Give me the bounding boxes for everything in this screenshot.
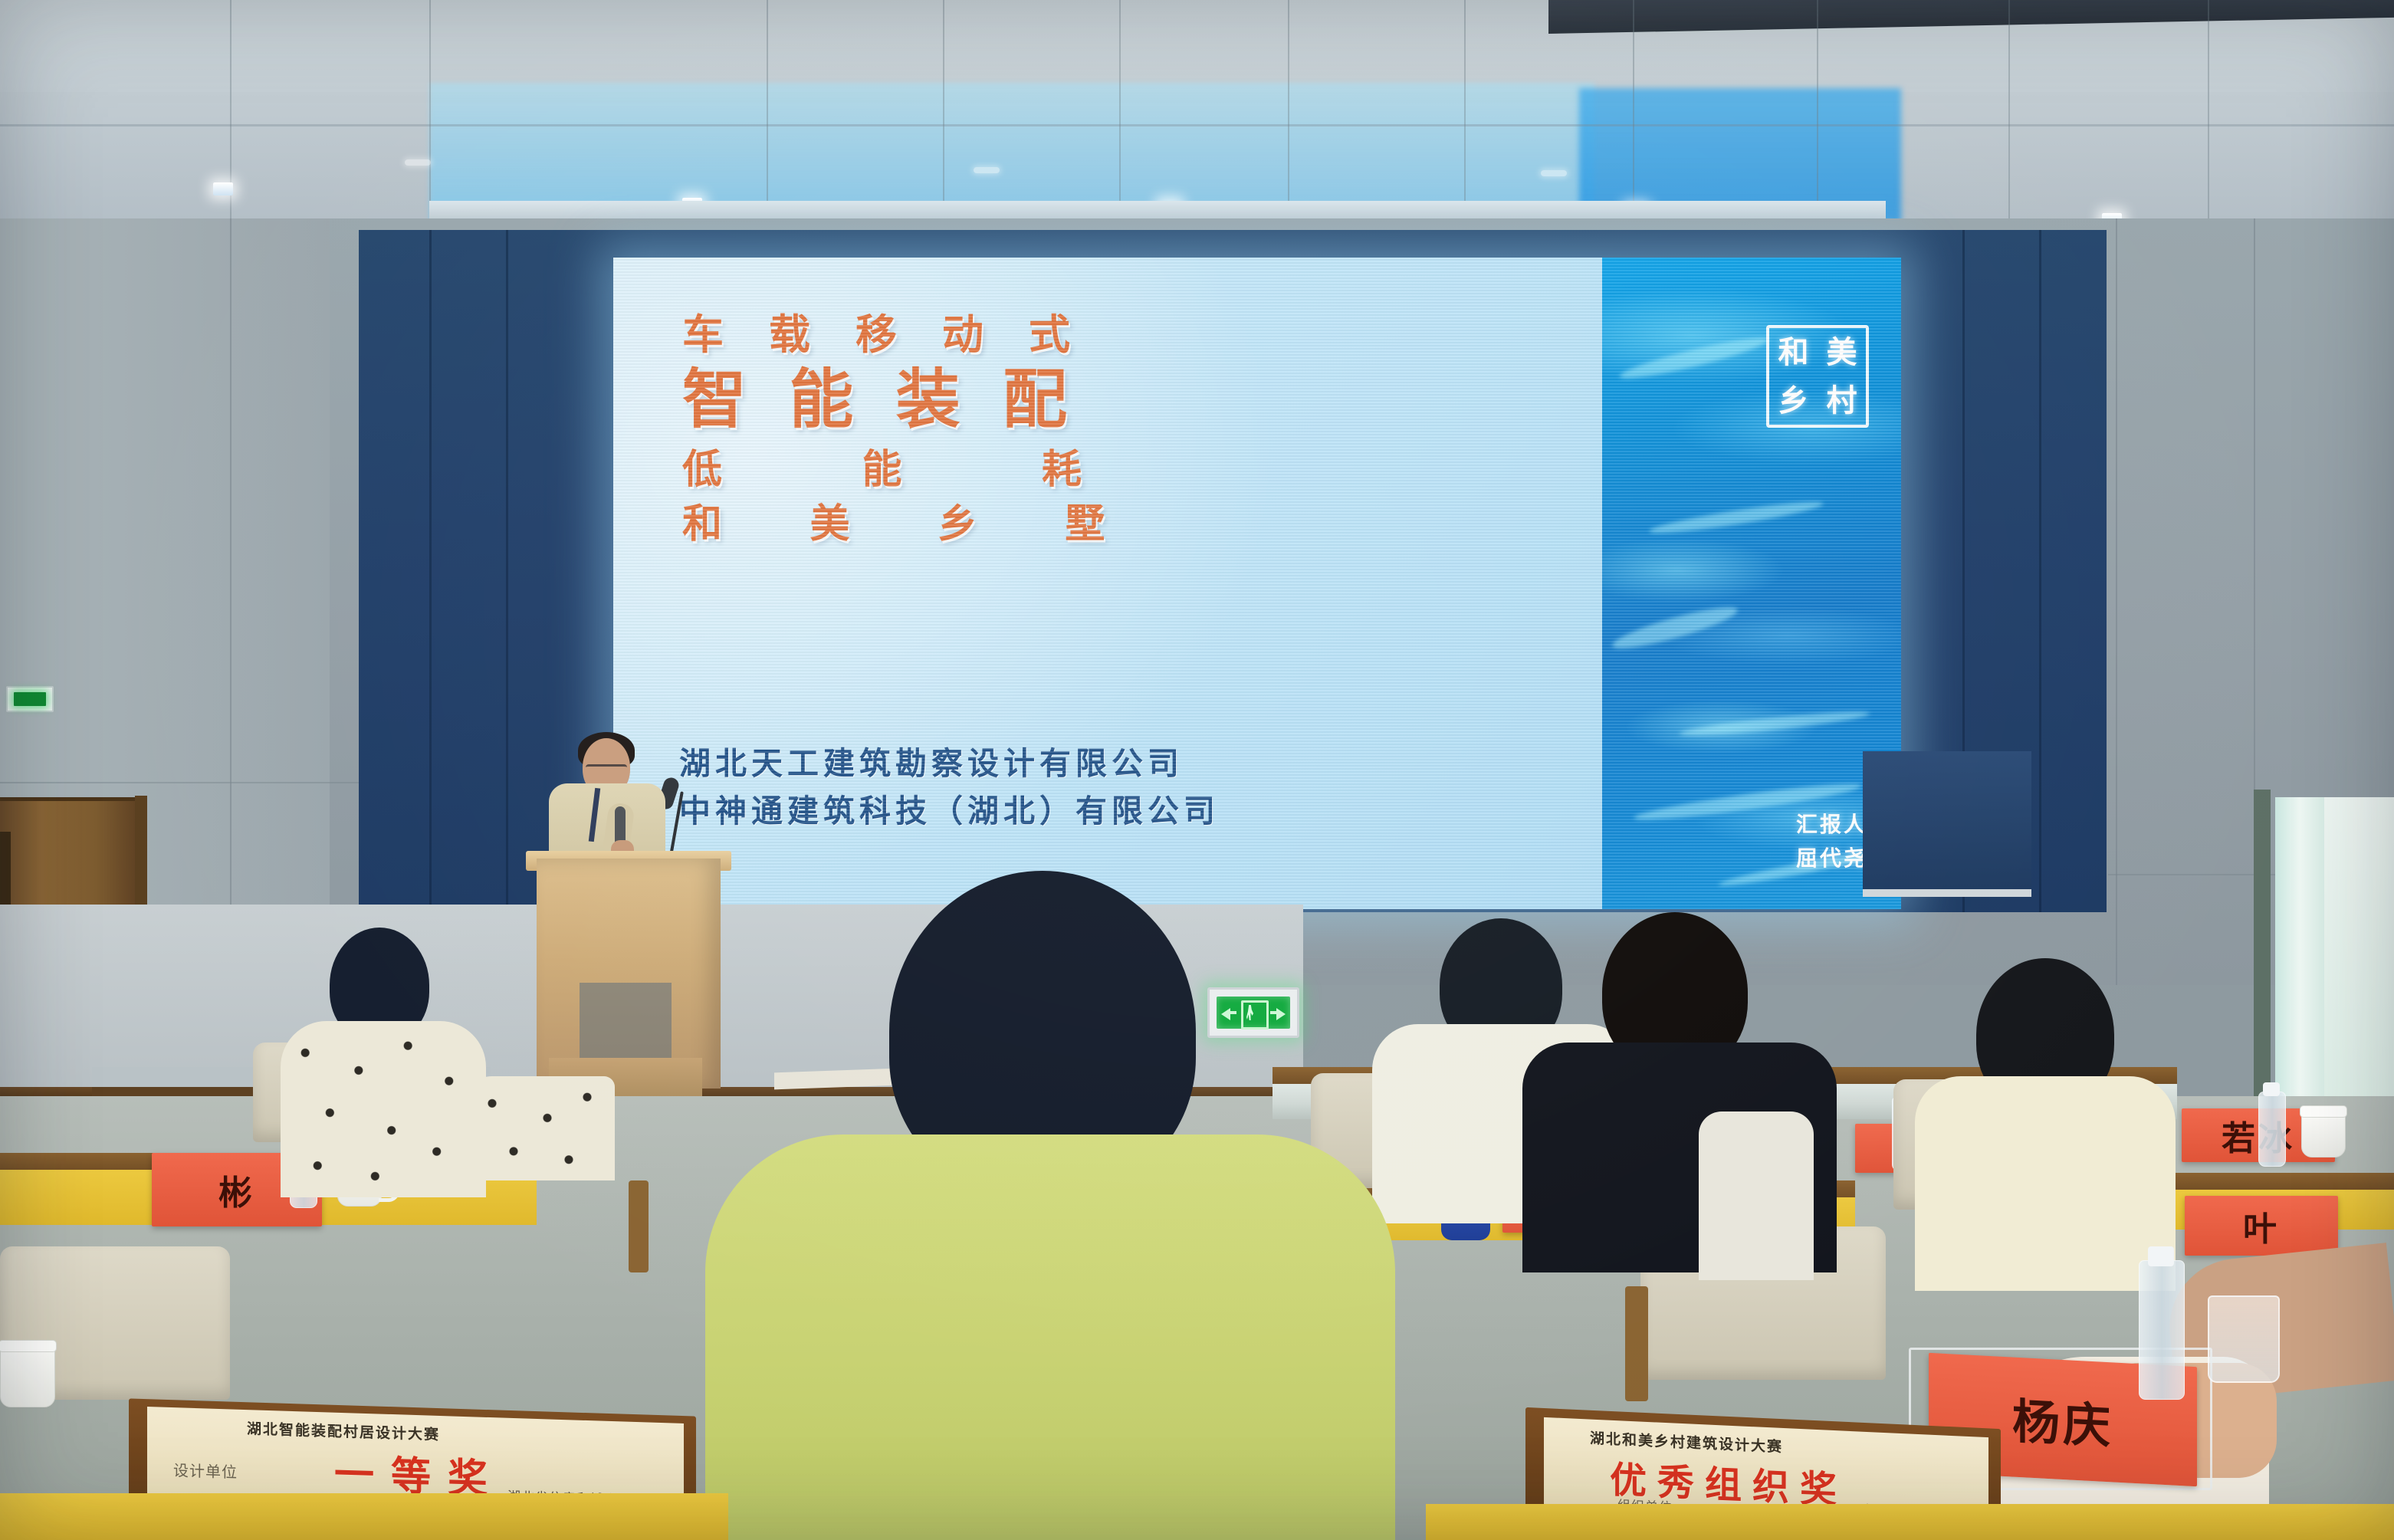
ceiling-air-vent — [1541, 170, 1567, 176]
led-presentation-screen: 车 载 移 动 式 智 能 装 配 低 能 耗 和 美 乡 墅 湖北天工建筑勘察… — [613, 258, 1901, 909]
exit-arrow-left-bar — [1229, 1011, 1236, 1014]
ceiling-seam — [943, 0, 944, 230]
attendee-body-foreground — [705, 1134, 1395, 1540]
ceiling-seam — [1288, 0, 1289, 230]
screen-scanlines — [613, 258, 1901, 909]
attendee-inner-shirt-center-right — [1699, 1111, 1814, 1280]
ceiling-seam — [1817, 0, 1818, 230]
attendee-body-left — [281, 1021, 486, 1197]
wall-seam — [230, 218, 232, 985]
speaker-glasses — [586, 764, 627, 777]
teacup-lid — [2300, 1105, 2347, 1118]
chair-arm-wood — [629, 1180, 649, 1272]
lidded-teacup-foreground — [0, 1348, 55, 1407]
chair-arm-wood — [1625, 1286, 1648, 1401]
backdrop-fold — [429, 230, 432, 912]
ceiling-seam — [1464, 0, 1466, 230]
bottle-cap — [2263, 1082, 2280, 1096]
exit-icon-center — [1217, 997, 1290, 1029]
ceiling-seam — [1119, 0, 1121, 230]
placard-ye: 叶 — [2185, 1196, 2338, 1256]
ceiling-seam — [2208, 0, 2209, 230]
ceiling-seam — [1633, 0, 1634, 230]
ceiling-seam — [429, 0, 431, 230]
exit-arrow-left-icon — [1221, 1008, 1230, 1020]
certificate-left-signature: 设计单位 — [173, 1458, 238, 1483]
backdrop-fold — [506, 230, 508, 912]
wall-horizontal-seam — [0, 782, 360, 783]
attendee-arm-left — [461, 1076, 615, 1180]
ceiling-air-vent — [405, 159, 431, 166]
bottle-cap-foreground — [2148, 1246, 2174, 1266]
ceiling-blue-light-panel — [429, 83, 1594, 221]
ceiling-seam — [2008, 0, 2010, 230]
table-foreground-right — [1426, 1504, 2394, 1540]
water-bottle-foreground — [2139, 1260, 2185, 1400]
wall-seam — [2116, 218, 2117, 985]
water-bottle — [2258, 1092, 2286, 1167]
exit-arrow-right-icon — [1276, 1008, 1286, 1020]
ceiling-air-vent — [974, 167, 1000, 173]
wall-mounted-monitor — [1863, 751, 2031, 897]
exit-arrow-right-bar — [1270, 1011, 1278, 1014]
ceiling-seam — [767, 0, 768, 230]
ceiling-seam — [230, 0, 232, 230]
table-foreground-left — [0, 1493, 728, 1540]
certificate-left-header: 湖北智能装配村居设计大赛 — [247, 1417, 440, 1444]
wall-seam — [2254, 218, 2255, 801]
lidded-teacup — [2301, 1113, 2346, 1157]
ceiling — [0, 0, 2394, 230]
exit-icon-left — [14, 692, 46, 706]
backdrop-fold — [2039, 230, 2041, 912]
teacup-lid-foreground — [0, 1340, 57, 1352]
drinking-glass-foreground — [2208, 1295, 2280, 1383]
ceiling-downlight — [213, 182, 233, 195]
exit-sign-center — [1207, 987, 1299, 1038]
exit-door-icon — [1241, 1000, 1269, 1029]
attendee-body-right — [1915, 1076, 2176, 1291]
ceiling-band-seam — [0, 124, 2394, 126]
exit-sign-left — [6, 686, 54, 712]
conference-hall-photo: 车 载 移 动 式 智 能 装 配 低 能 耗 和 美 乡 墅 湖北天工建筑勘察… — [0, 0, 2394, 1540]
